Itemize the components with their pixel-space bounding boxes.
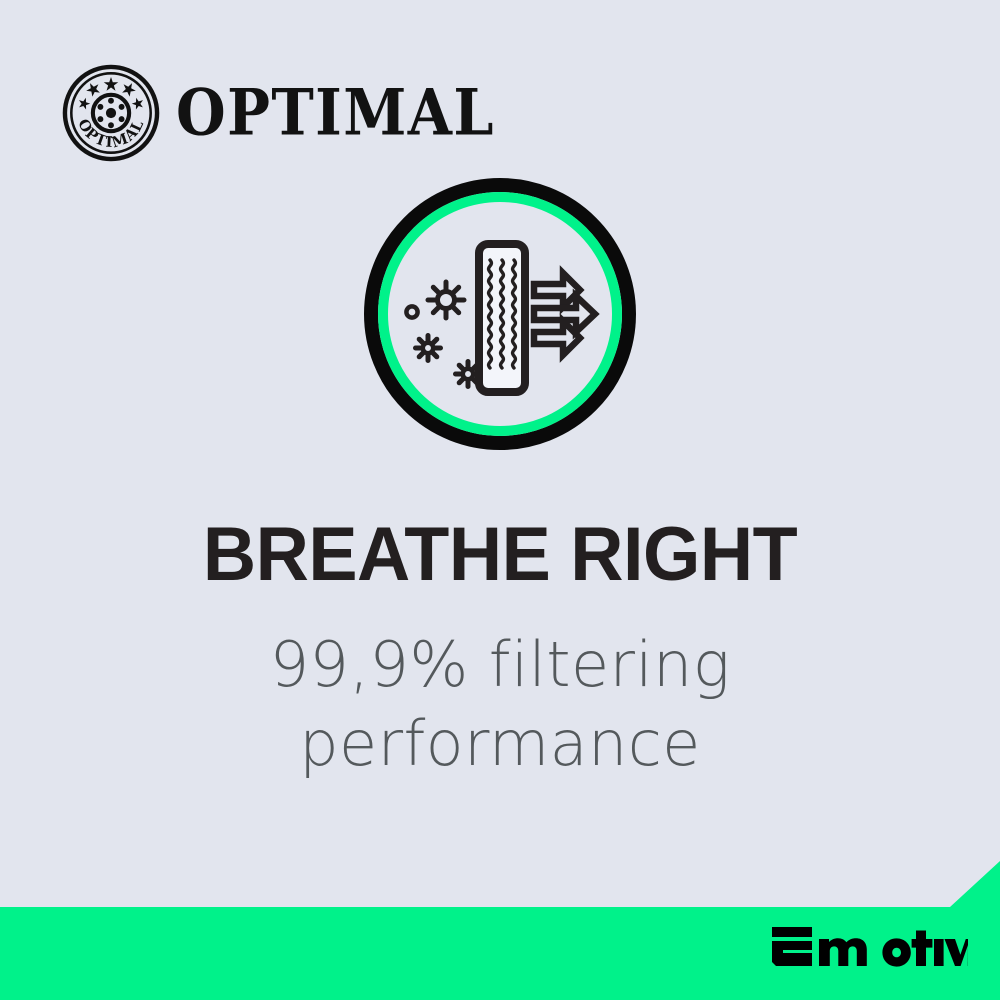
promo-poster: OPTIMAL OPTIMAL [0,0,1000,1000]
brand-logo: OPTIMAL OPTIMAL [62,58,482,168]
seal-arc-text: OPTIMAL [74,116,147,151]
optimal-seal-badge-icon: OPTIMAL [62,64,160,162]
brand-wordmark: OPTIMAL [176,81,495,144]
feature-icon-svg [364,178,636,450]
subtitle: 99,9% filtering performance [0,625,1000,784]
air-filter-performance-icon [364,178,636,450]
emotive-wordmark-icon [768,926,968,970]
pleated-filter-element-icon [479,244,525,392]
svg-text:OPTIMAL: OPTIMAL [74,116,147,151]
subtitle-line-1: 99,9% filtering [0,625,1000,704]
page-title: BREATHE RIGHT [15,517,985,593]
partner-logo-emotive [768,926,968,970]
subtitle-line-2: performance [0,704,1000,783]
footer-banner [0,855,1000,1000]
